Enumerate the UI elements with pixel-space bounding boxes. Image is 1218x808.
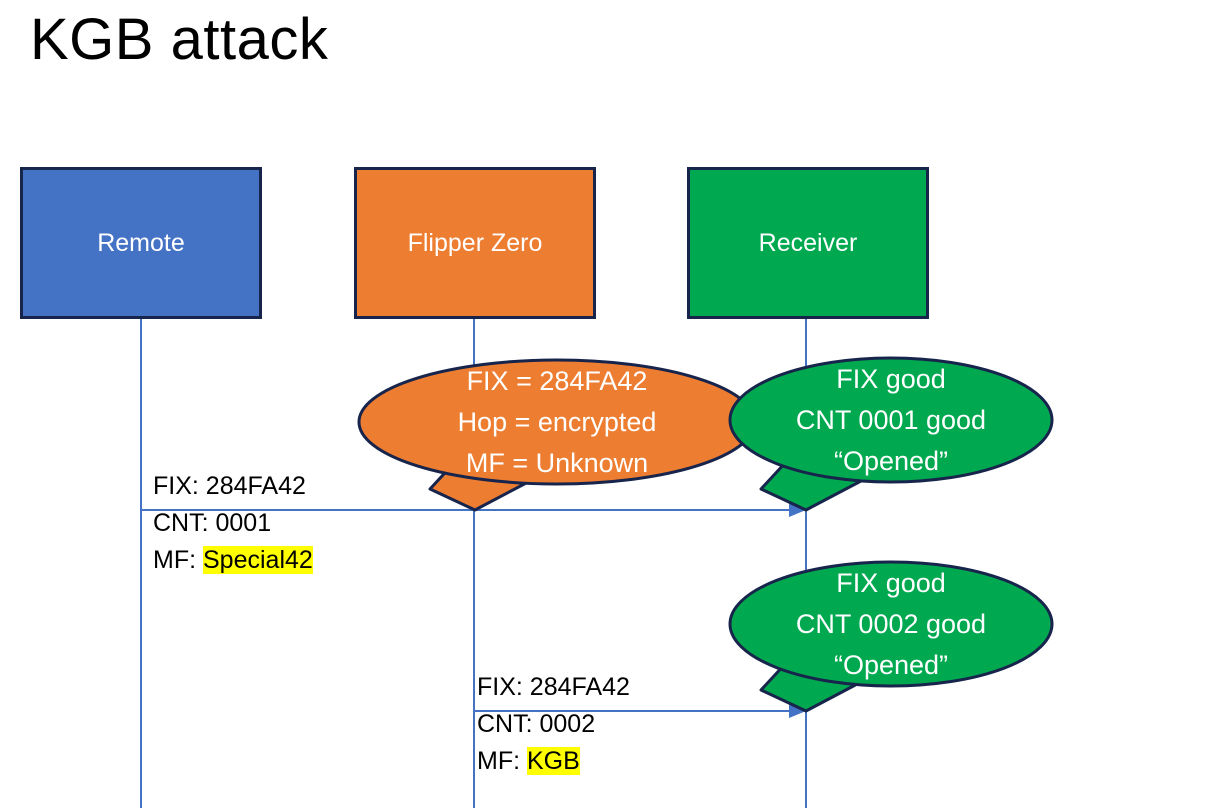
actor-label-receiver: Receiver	[759, 229, 858, 258]
actor-box-remote[interactable]: Remote	[20, 167, 262, 319]
message-1-line-fix: FIX: 284FA42	[153, 468, 313, 505]
message-2-label: FIX: 284FA42 CNT: 0002 MF: KGB	[477, 669, 630, 780]
actor-box-receiver[interactable]: Receiver	[687, 167, 929, 319]
message-2-line-mf: MF: KGB	[477, 743, 630, 780]
receiver-callout-1-shape	[730, 358, 1052, 510]
actor-box-flipper[interactable]: Flipper Zero	[354, 167, 596, 319]
flipper-callout-shape	[359, 360, 755, 510]
message-2-line-fix: FIX: 284FA42	[477, 669, 630, 706]
message-2-line-cnt: CNT: 0002	[477, 706, 630, 743]
message-1-line-cnt: CNT: 0001	[153, 505, 313, 542]
message-2-mf-highlight: KGB	[527, 747, 580, 775]
message-1-label: FIX: 284FA42 CNT: 0001 MF: Special42	[153, 468, 313, 579]
receiver-callout-2-shape	[730, 562, 1052, 711]
message-1-line-mf: MF: Special42	[153, 542, 313, 579]
actor-label-remote: Remote	[97, 229, 185, 258]
message-1-mf-highlight: Special42	[203, 546, 313, 574]
actor-label-flipper: Flipper Zero	[408, 229, 543, 258]
